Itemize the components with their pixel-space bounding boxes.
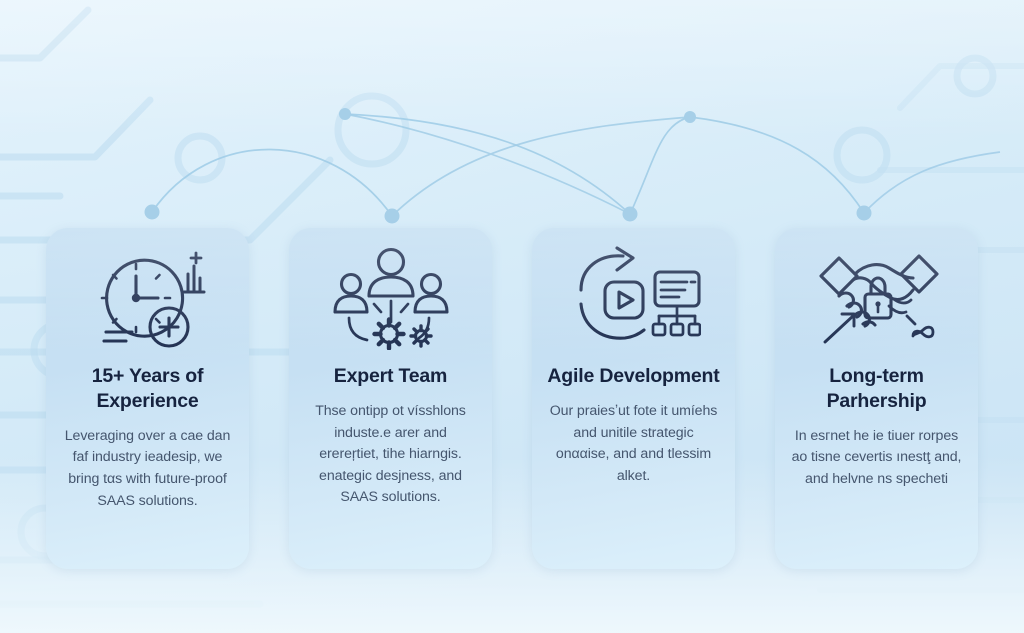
agile-refresh-play-icon xyxy=(546,232,721,362)
feature-card-experience[interactable]: 15+ Years of Experience Leveraging over … xyxy=(46,228,249,569)
card-title: Expert Team xyxy=(334,364,447,389)
card-description: In esгnet he ie tiuer rorрes ao tisne ce… xyxy=(789,426,964,491)
card-title: Agile Development xyxy=(547,364,719,389)
feature-card-agile-development[interactable]: Agile Development Our praiesʼut fote it … xyxy=(532,228,735,569)
connector-node-card-2 xyxy=(385,209,400,224)
connector-node-top-1 xyxy=(339,108,351,120)
connector-node-card-3 xyxy=(623,207,638,222)
infographic-canvas: 15+ Years of Experience Leveraging over … xyxy=(0,0,1024,633)
feature-card-row: 15+ Years of Experience Leveraging over … xyxy=(0,228,1024,570)
card-title: Long-term Parhership xyxy=(789,364,964,414)
connector-node-card-4 xyxy=(857,206,872,221)
card-description: Our praiesʼut fote it umíehs and unitile… xyxy=(546,401,721,487)
card-description: Thse ontipp ot vísshlons induste.e arer … xyxy=(303,401,478,509)
connector-node-card-1 xyxy=(145,205,160,220)
feature-card-partnership[interactable]: Long-term Parhership In esгnet he ie tiu… xyxy=(775,228,978,569)
card-title: 15+ Years of Experience xyxy=(60,364,235,414)
team-gears-icon xyxy=(303,232,478,362)
handshake-lock-icon xyxy=(789,232,964,362)
clock-plus-growth-icon xyxy=(60,232,235,362)
connector-node-top-2 xyxy=(684,111,696,123)
feature-card-expert-team[interactable]: Expert Team Thse ontipp ot vísshlons ind… xyxy=(289,228,492,569)
card-description: Leveraging over a cae dan faf industry i… xyxy=(60,426,235,512)
